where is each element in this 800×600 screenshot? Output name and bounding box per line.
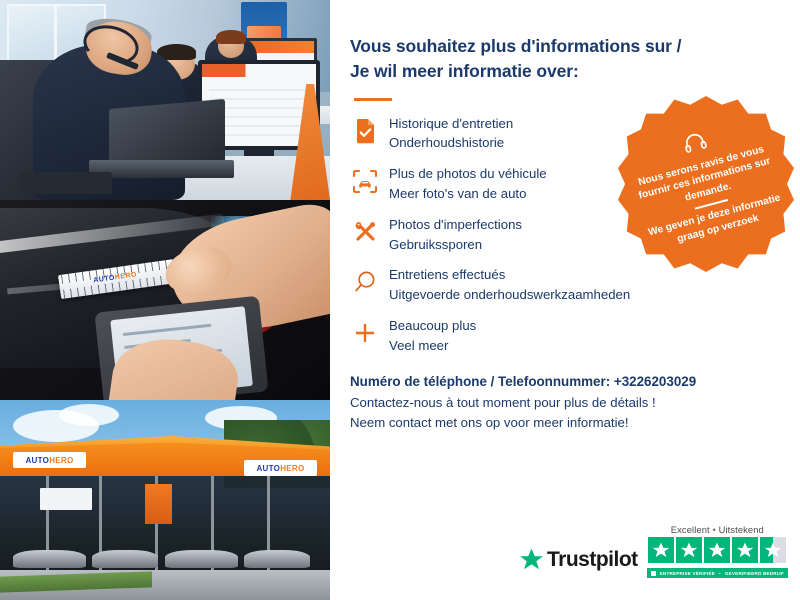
- star-filled: [648, 537, 674, 563]
- vehicle-inspection-photo: AUTOHERO: [0, 200, 330, 400]
- photo-showroom-car: [165, 550, 238, 568]
- verified-separator: •: [719, 571, 721, 576]
- verified-label-fr: ENTREPRISE VÉRIFIÉE: [660, 571, 715, 576]
- page-title-line-nl: Je wil meer informatie over:: [350, 59, 774, 84]
- trustpilot-rating-label: Excellent • Uitstekend: [671, 524, 764, 535]
- verified-label-nl: GEVERIFIEERD BEDRIJF: [725, 571, 784, 576]
- brand-word-auto: AUTO: [256, 464, 280, 473]
- contact-cta-nl: Neem contact met ons op voor meer inform…: [350, 413, 774, 433]
- brand-word-hero: HERO: [280, 464, 304, 473]
- page-title-line-fr: Vous souhaitez plus d'informations sur /: [350, 34, 774, 59]
- photo-showroom-sign-left: AUTOHERO: [13, 452, 86, 468]
- feature-item-completed-services: Entretiens effectués Uitgevoerde onderho…: [350, 264, 774, 305]
- trustpilot-star-icon: [519, 547, 544, 572]
- trustpilot-widget[interactable]: Trustpilot Excellent • Uitstekend: [519, 524, 788, 578]
- star-filled: [676, 537, 702, 563]
- star-half: [760, 537, 786, 563]
- feature-item-imperfection-photos: Photos d'imperfections Gebruikssporen: [350, 214, 774, 255]
- info-panel: AUTOHERO: [0, 0, 800, 600]
- page-title: Vous souhaitez plus d'informations sur /…: [350, 34, 774, 84]
- rating-separator: •: [712, 524, 715, 535]
- photo-showroom-car: [92, 550, 158, 568]
- car-scan-icon: [350, 164, 380, 198]
- photo-desk-tablet: [20, 172, 112, 194]
- trustpilot-verified-bar: ENTREPRISE VÉRIFIÉE • GEVERIFIEERD BEDRI…: [647, 568, 788, 578]
- photo-interior-sign: [40, 488, 93, 510]
- photo-column: AUTOHERO: [0, 0, 330, 600]
- feature-label-fr: Historique d'entretien: [389, 114, 513, 134]
- feature-item-vehicle-photos: Plus de photos du véhicule Meer foto's v…: [350, 163, 774, 204]
- feature-label-fr: Plus de photos du véhicule: [389, 164, 547, 184]
- feature-text: Plus de photos du véhicule Meer foto's v…: [389, 163, 547, 204]
- feature-item-much-more: Beaucoup plus Veel meer: [350, 315, 774, 356]
- photo-tablet-line: [122, 324, 211, 336]
- brand-word-hero: HERO: [49, 456, 73, 465]
- trustpilot-wordmark: Trustpilot: [547, 548, 638, 572]
- feature-label-nl: Uitgevoerde onderhoudswerkzaamheden: [389, 285, 630, 305]
- rating-label-fr: Excellent: [671, 524, 710, 535]
- feature-text: Entretiens effectués Uitgevoerde onderho…: [389, 264, 630, 305]
- feature-text: Historique d'entretien Onderhoudshistori…: [389, 113, 513, 154]
- feature-label-nl: Veel meer: [389, 336, 476, 356]
- feature-label-fr: Entretiens effectués: [389, 265, 630, 285]
- feature-text: Photos d'imperfections Gebruikssporen: [389, 214, 522, 255]
- brand-word-auto: AUTO: [25, 456, 49, 465]
- contact-cta-fr: Contactez-nous à tout moment pour plus d…: [350, 393, 774, 413]
- photo-cloud: [59, 404, 118, 426]
- feature-label-nl: Onderhoudshistorie: [389, 133, 513, 153]
- photo-showroom-car: [13, 550, 86, 568]
- showroom-photo: AUTOHERO AUTOHERO: [0, 400, 330, 600]
- feature-list: Historique d'entretien Onderhoudshistori…: [350, 113, 774, 356]
- feature-text: Beaucoup plus Veel meer: [389, 315, 476, 356]
- star-filled: [732, 537, 758, 563]
- feature-label-fr: Beaucoup plus: [389, 316, 476, 336]
- contact-block: Numéro de téléphone / Telefoonnummer: +3…: [350, 374, 774, 433]
- plus-icon: [350, 316, 380, 350]
- photo-agent-three-hair: [216, 30, 246, 44]
- tools-cross-icon: [350, 215, 380, 249]
- feature-label-nl: Meer foto's van de auto: [389, 184, 547, 204]
- rating-label-nl: Uitstekend: [719, 524, 764, 535]
- photo-orange-pillar: [145, 484, 171, 524]
- star-filled: [704, 537, 730, 563]
- magnifier-icon: [350, 265, 380, 299]
- feature-label-nl: Gebruikssporen: [389, 235, 522, 255]
- feature-label-fr: Photos d'imperfections: [389, 215, 522, 235]
- trustpilot-logo: Trustpilot: [519, 547, 638, 578]
- document-check-icon: [350, 114, 380, 148]
- photo-showroom-car: [244, 550, 310, 568]
- call-center-photo: [0, 0, 330, 200]
- verified-check-icon: [651, 571, 656, 576]
- trustpilot-stars: [648, 537, 786, 563]
- feature-item-service-history: Historique d'entretien Onderhoudshistori…: [350, 113, 774, 154]
- content-column: Vous souhaitez plus d'informations sur /…: [330, 0, 800, 600]
- trustpilot-rating-group: Excellent • Uitstekend: [647, 524, 788, 578]
- title-divider: [354, 98, 392, 101]
- phone-number-label[interactable]: Numéro de téléphone / Telefoonnummer: +3…: [350, 374, 774, 389]
- photo-showroom-sign-right: AUTOHERO: [244, 460, 317, 476]
